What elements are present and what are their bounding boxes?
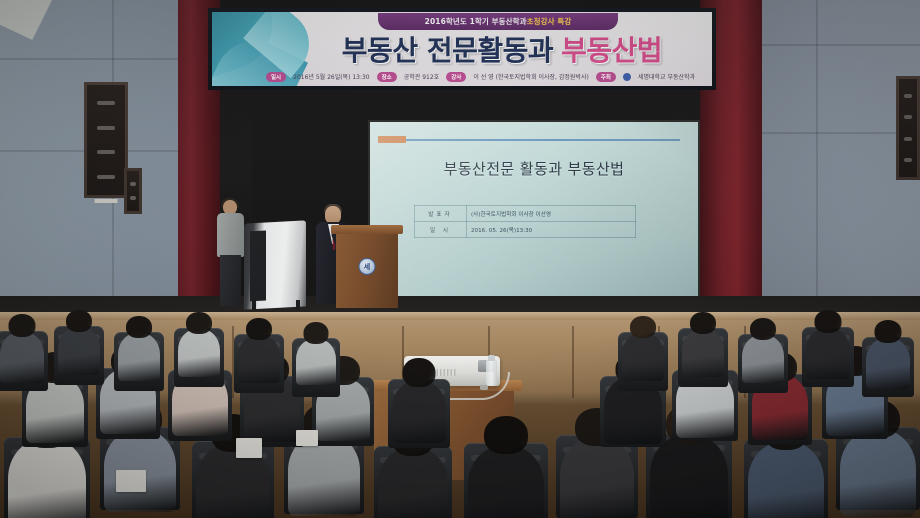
slide-row-key: 발표자 [415, 206, 467, 222]
assistant-shirt [217, 213, 244, 257]
banner-title-accent: 부동산법 [561, 29, 662, 69]
table-row: 일 시 2016. 05. 26(목)13:30 [415, 222, 636, 238]
audience-member-torso [0, 332, 44, 383]
audience-member [742, 318, 784, 382]
audience-member-torso [296, 339, 336, 385]
audience-member [468, 416, 544, 518]
audience-member-torso [118, 333, 160, 381]
audience-member-head [815, 310, 842, 333]
audience-member [392, 358, 446, 441]
banner-footer-tag: 강사 [446, 72, 466, 82]
audience-member-torso [622, 333, 664, 381]
lecture-hall-photo: 2016학년도 1학기 부동산학과 초청강사 특강 부동산 전문활동과 부동산법… [0, 0, 920, 518]
audience-member [118, 316, 160, 380]
audience-member-torso [650, 435, 728, 518]
banner-footer-tag: 주최 [596, 72, 616, 82]
audience-member-head [126, 316, 152, 338]
audience-member [622, 316, 664, 380]
audience-member [866, 320, 910, 387]
projection-screen: 부동산전문 활동과 부동산법 발표자 (사)한국토지법학회 이사장 이선영 일 … [368, 120, 700, 300]
slide-row-key: 일 시 [415, 222, 467, 238]
audience-member-head [690, 312, 716, 334]
audience-member-torso [392, 381, 446, 443]
audience-member-torso [748, 442, 824, 518]
event-banner: 2016학년도 1학기 부동산학과 초청강사 특강 부동산 전문활동과 부동산법… [208, 8, 716, 90]
audience-member-head [630, 316, 656, 338]
audience-member-head [403, 358, 436, 387]
banner-subtitle-highlight: 초청강사 특강 [527, 16, 572, 27]
audience-member-torso [178, 329, 220, 377]
audience-member-torso [806, 328, 850, 379]
audience-member-torso [58, 327, 100, 375]
banner-footer-text: 세명대학교 부동산학과 [638, 72, 695, 81]
audience-member-torso [560, 438, 634, 518]
audience-member-torso [378, 448, 448, 518]
audience-member-head [66, 310, 92, 332]
audience-member-head [875, 320, 902, 343]
audience-member-torso [238, 335, 280, 383]
banner-footer-tag: 일시 [266, 72, 286, 82]
banner-footer: 일시 2016년 5월 26일(목) 13:30 장소 공학관 912호 강사 … [266, 70, 712, 83]
university-emblem-icon [623, 73, 631, 81]
handout-notebook [116, 470, 146, 492]
audience-member-head [9, 314, 36, 337]
wall-speaker-left [84, 82, 128, 198]
slide-rule [384, 139, 680, 141]
audience-member-torso [682, 329, 724, 377]
audience-member [0, 314, 44, 381]
slide-accent-block [378, 136, 406, 143]
banner-title-primary: 부동산 전문활동과 [342, 29, 553, 69]
audience-member-head [246, 318, 272, 340]
audience-member-head [484, 416, 528, 454]
banner-subtitle-prefix: 2016학년도 1학기 부동산학과 [425, 16, 527, 27]
audience-member-head [186, 312, 212, 334]
banner-subtitle: 2016학년도 1학기 부동산학과 초청강사 특강 [378, 13, 618, 30]
audience-member-head [304, 322, 329, 344]
handout-notebook [236, 438, 262, 458]
banner-footer-text: 공학관 912호 [404, 72, 439, 81]
banner-footer-text: 이 선 영 (한국토지법학회 이사장, 감정원박사) [473, 72, 589, 81]
audience-member [296, 322, 336, 384]
audience-member [58, 310, 100, 374]
audience-member-torso [8, 439, 86, 518]
audience-member [238, 318, 280, 382]
stage-assistant [216, 200, 246, 306]
podium-top [331, 225, 403, 234]
table-row: 발표자 (사)한국토지법학회 이사장 이선영 [415, 206, 636, 222]
wall-speaker-right [896, 76, 920, 180]
banner-footer-tag: 장소 [377, 72, 397, 82]
audience-member-torso [468, 446, 544, 518]
handout-notebook [296, 430, 318, 446]
audience-member [178, 312, 220, 376]
audience-member-torso [742, 335, 784, 383]
audience [0, 296, 920, 518]
banner-footer-text: 2016년 5월 26일(목) 13:30 [293, 72, 370, 81]
slide-row-value: 2016. 05. 26(목)13:30 [467, 222, 636, 238]
slide-info-table: 발표자 (사)한국토지법학회 이사장 이선영 일 시 2016. 05. 26(… [414, 205, 636, 238]
audience-member-torso [866, 338, 910, 389]
banner-title: 부동산 전문활동과 부동산법 [290, 29, 712, 69]
podium-emblem-icon: 세 [359, 258, 376, 275]
audience-member-head [750, 318, 776, 340]
audience-member [682, 312, 724, 376]
audience-member [806, 310, 850, 377]
slide-title: 부동산전문 활동과 부동산법 [370, 158, 698, 179]
wall-speaker-small [124, 168, 142, 214]
audience-member-torso [840, 430, 916, 517]
slide-row-value: (사)한국토지법학회 이사장 이선영 [467, 206, 636, 222]
